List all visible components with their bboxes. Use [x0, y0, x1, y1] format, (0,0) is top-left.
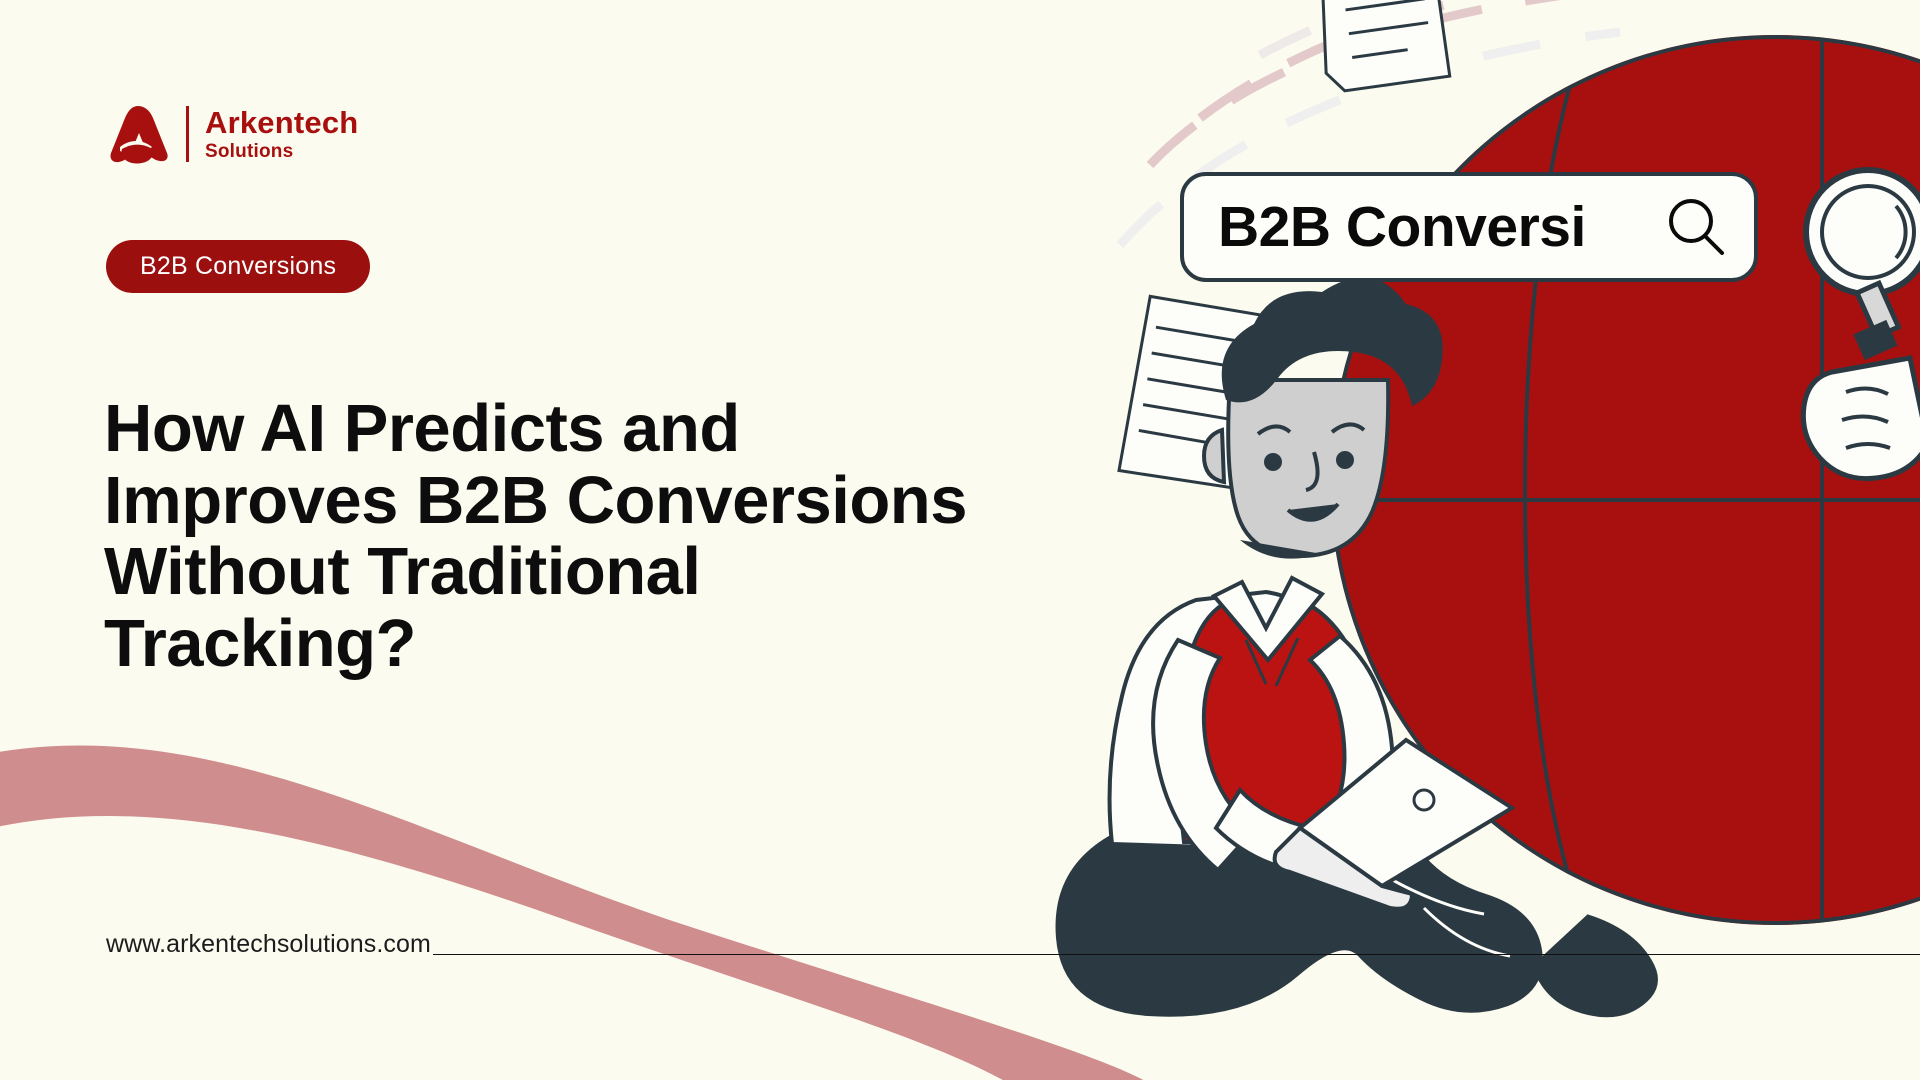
search-input[interactable]: B2B Conversi [1218, 194, 1654, 260]
logo-subtitle: Solutions [205, 142, 358, 161]
website-url[interactable]: www.arkentechsolutions.com [106, 930, 433, 959]
search-bar[interactable]: B2B Conversi [1180, 172, 1758, 282]
arkentech-a-mark-icon [108, 103, 170, 165]
title-line-4: Tracking? [104, 608, 1104, 680]
logo-name: Arkentech [205, 107, 358, 138]
hero-banner: Arkentech Solutions B2B Conversions How … [0, 0, 1920, 1080]
title-line-1: How AI Predicts and [104, 393, 1104, 465]
pink-wave [0, 746, 1160, 1080]
magnifier-icon[interactable] [1664, 195, 1728, 259]
brand-logo[interactable]: Arkentech Solutions [108, 103, 358, 165]
logo-divider [186, 106, 189, 162]
category-badge[interactable]: B2B Conversions [106, 240, 370, 293]
logo-text: Arkentech Solutions [205, 107, 358, 161]
title-line-2: Improves B2B Conversions [104, 465, 1104, 537]
page-title: How AI Predicts and Improves B2B Convers… [104, 393, 1104, 680]
title-line-3: Without Traditional [104, 536, 1104, 608]
floating-paper-top [1306, 0, 1449, 93]
